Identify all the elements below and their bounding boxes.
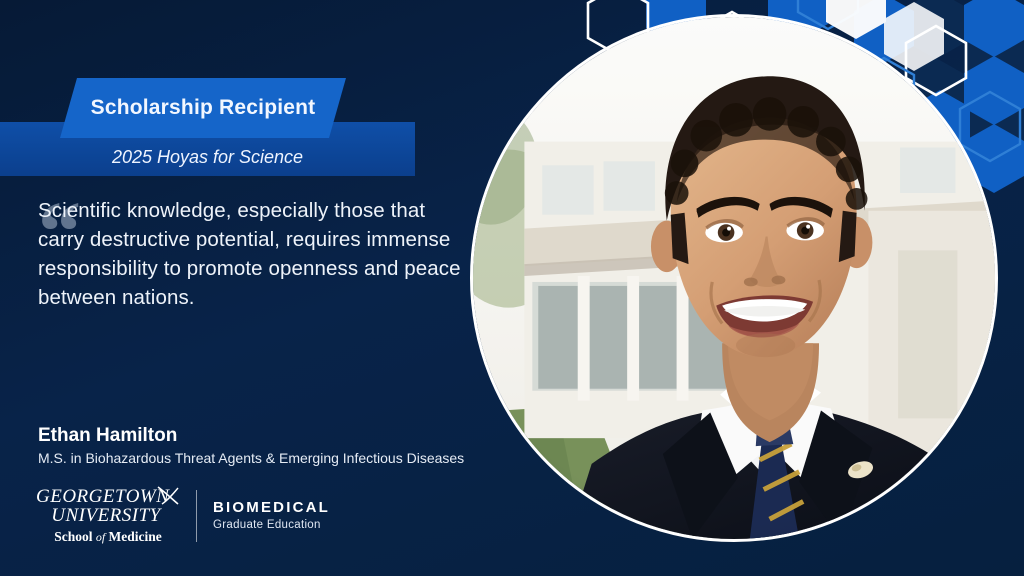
quote-text: Scientific knowledge, especially those t… [38,196,468,312]
logo-lockup: GEORGETOWN UNIVERSITY School of Medicine… [34,487,330,545]
georgetown-university-logo: GEORGETOWN UNIVERSITY School of Medicine [34,487,182,545]
recipient-name: Ethan Hamilton [38,425,488,447]
georgetown-text: GEORGETOWN [36,486,169,507]
medicine-word: Medicine [109,529,162,544]
biomedical-graduate-education-logo: BIOMEDICAL Graduate Education [213,499,330,533]
attribution-block: Ethan Hamilton M.S. in Biohazardous Thre… [38,425,488,467]
banner-subtitle: 2025 Hoyas for Science [112,147,303,168]
biomedical-title: BIOMEDICAL [213,499,330,517]
georgetown-wordmark-line2: UNIVERSITY [34,506,182,525]
school-word: School [54,529,92,544]
banner-title: Scholarship Recipient [91,96,316,120]
logo-divider [196,490,197,542]
georgetown-swash-icon [156,484,180,506]
biomedical-subtitle: Graduate Education [213,518,330,533]
georgetown-wordmark-line1: GEORGETOWN [34,487,182,506]
quote-block: “ Scientific knowledge, especially those… [38,196,468,312]
banner-hex-tag: Scholarship Recipient [60,78,346,138]
recipient-degree: M.S. in Biohazardous Threat Agents & Eme… [38,449,488,467]
school-of-medicine-text: School of Medicine [34,529,182,545]
recipient-banner: 2025 Hoyas for Science Scholarship Recip… [0,78,430,182]
recipient-portrait [470,14,998,542]
scholarship-recipient-card: 2025 Hoyas for Science Scholarship Recip… [0,0,1024,576]
of-word: of [96,530,105,544]
